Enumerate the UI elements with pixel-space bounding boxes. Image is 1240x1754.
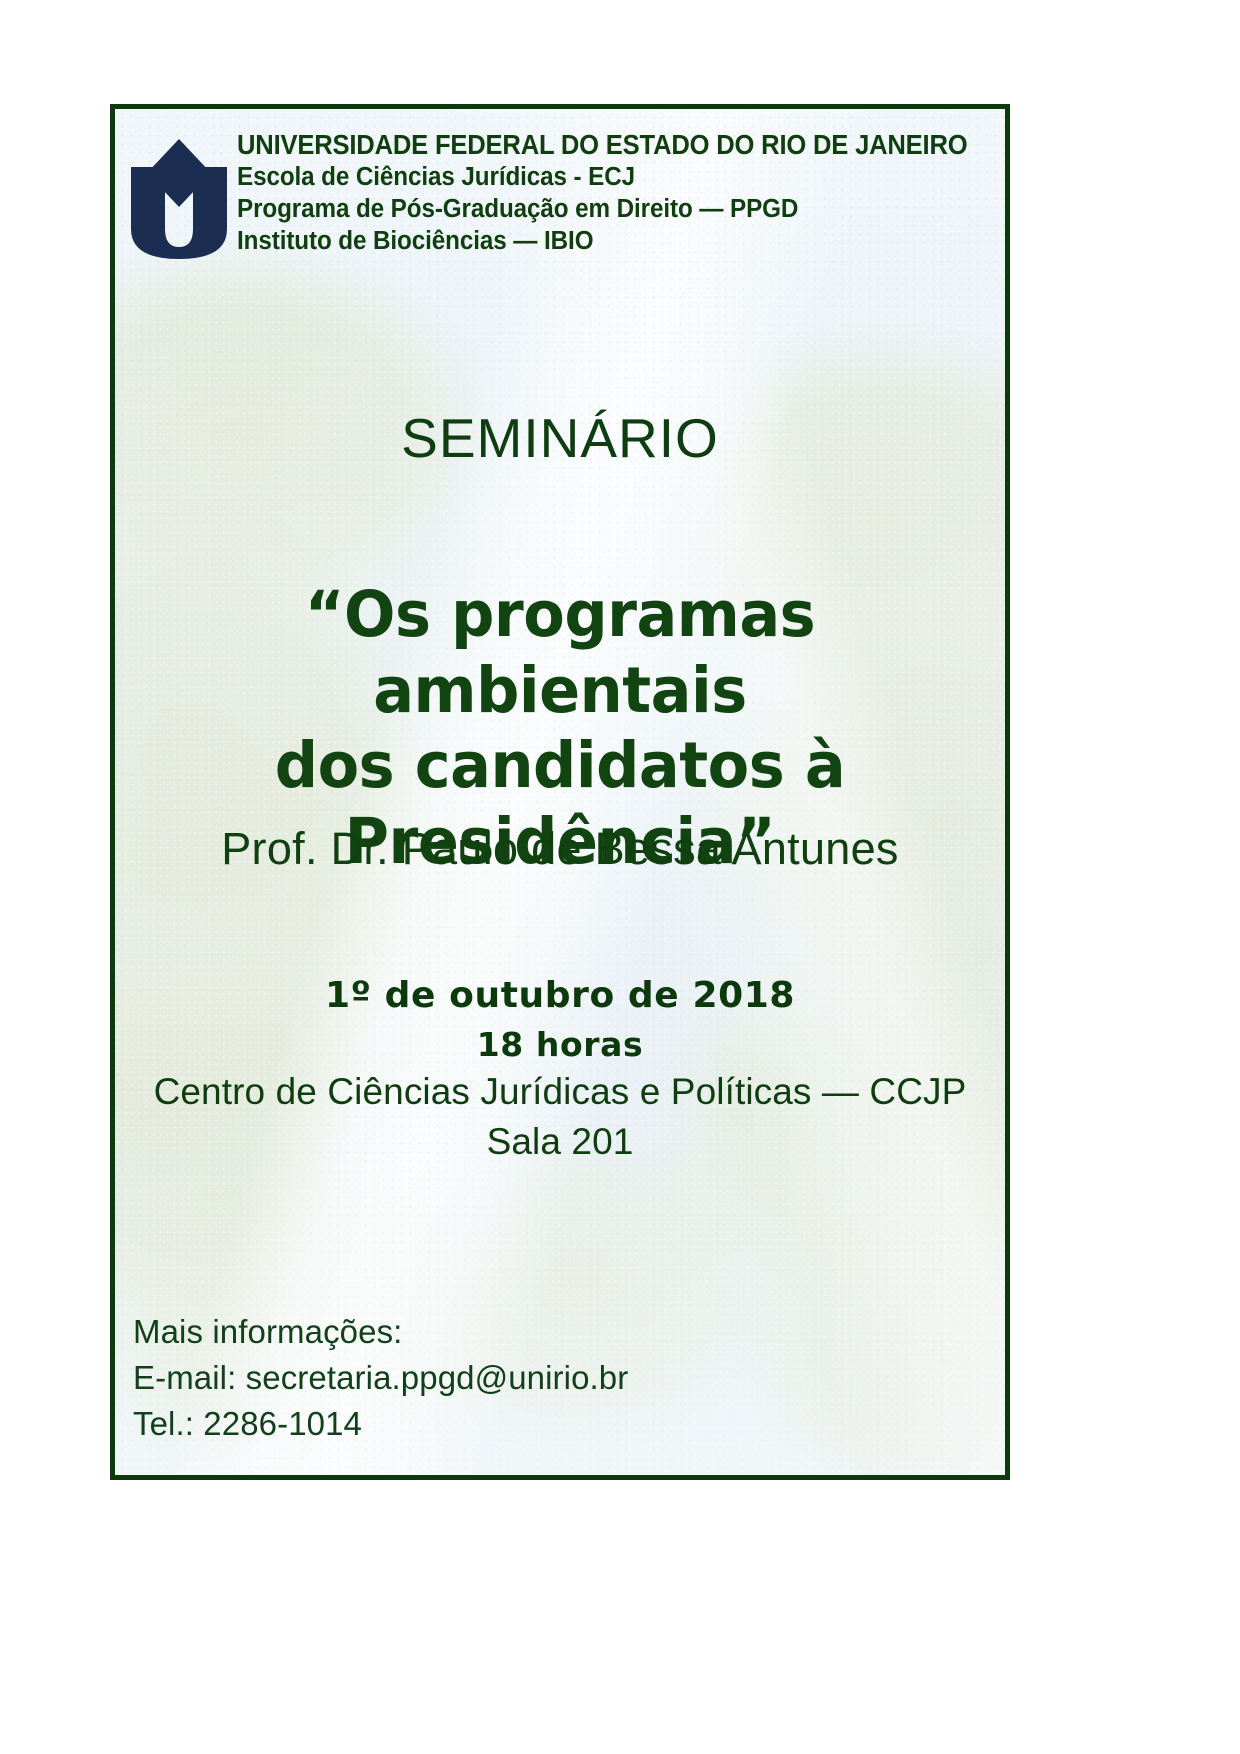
header-text-lines: UNIVERSIDADE FEDERAL DO ESTADO DO RIO DE… xyxy=(237,123,1010,259)
header-institute-line: Instituto de Biociências — IBIO xyxy=(237,227,983,257)
event-venue: Centro de Ciências Jurídicas e Políticas… xyxy=(115,1071,1005,1113)
unirio-logo-icon xyxy=(127,133,231,259)
event-title-line-1: “Os programas ambientais xyxy=(133,577,987,728)
poster-page: UNIVERSIDADE FEDERAL DO ESTADO DO RIO DE… xyxy=(0,0,1240,1754)
poster-frame: UNIVERSIDADE FEDERAL DO ESTADO DO RIO DE… xyxy=(110,104,1010,1480)
header-program-line: Programa de Pós-Graduação em Direito — P… xyxy=(237,195,983,225)
event-speaker: Prof. Dr. Paulo de Bessa Antunes xyxy=(115,823,1005,875)
header-university-line: UNIVERSIDADE FEDERAL DO ESTADO DO RIO DE… xyxy=(237,129,967,161)
logo-container xyxy=(115,123,237,259)
poster-content: UNIVERSIDADE FEDERAL DO ESTADO DO RIO DE… xyxy=(115,109,1005,1475)
contact-email: E-mail: secretaria.ppgd@unirio.br xyxy=(133,1355,628,1401)
event-kind-label: SEMINÁRIO xyxy=(115,406,1005,470)
contact-phone: Tel.: 2286-1014 xyxy=(133,1401,628,1447)
event-time: 18 horas xyxy=(115,1025,1005,1064)
header-school-line: Escola de Ciências Jurídicas - ECJ xyxy=(237,163,983,193)
event-room: Sala 201 xyxy=(115,1121,1005,1163)
header-block: UNIVERSIDADE FEDERAL DO ESTADO DO RIO DE… xyxy=(115,123,1005,259)
event-date: 1º de outubro de 2018 xyxy=(115,975,1005,1016)
contact-heading: Mais informações: xyxy=(133,1309,628,1355)
contact-block: Mais informações: E-mail: secretaria.ppg… xyxy=(133,1309,628,1448)
